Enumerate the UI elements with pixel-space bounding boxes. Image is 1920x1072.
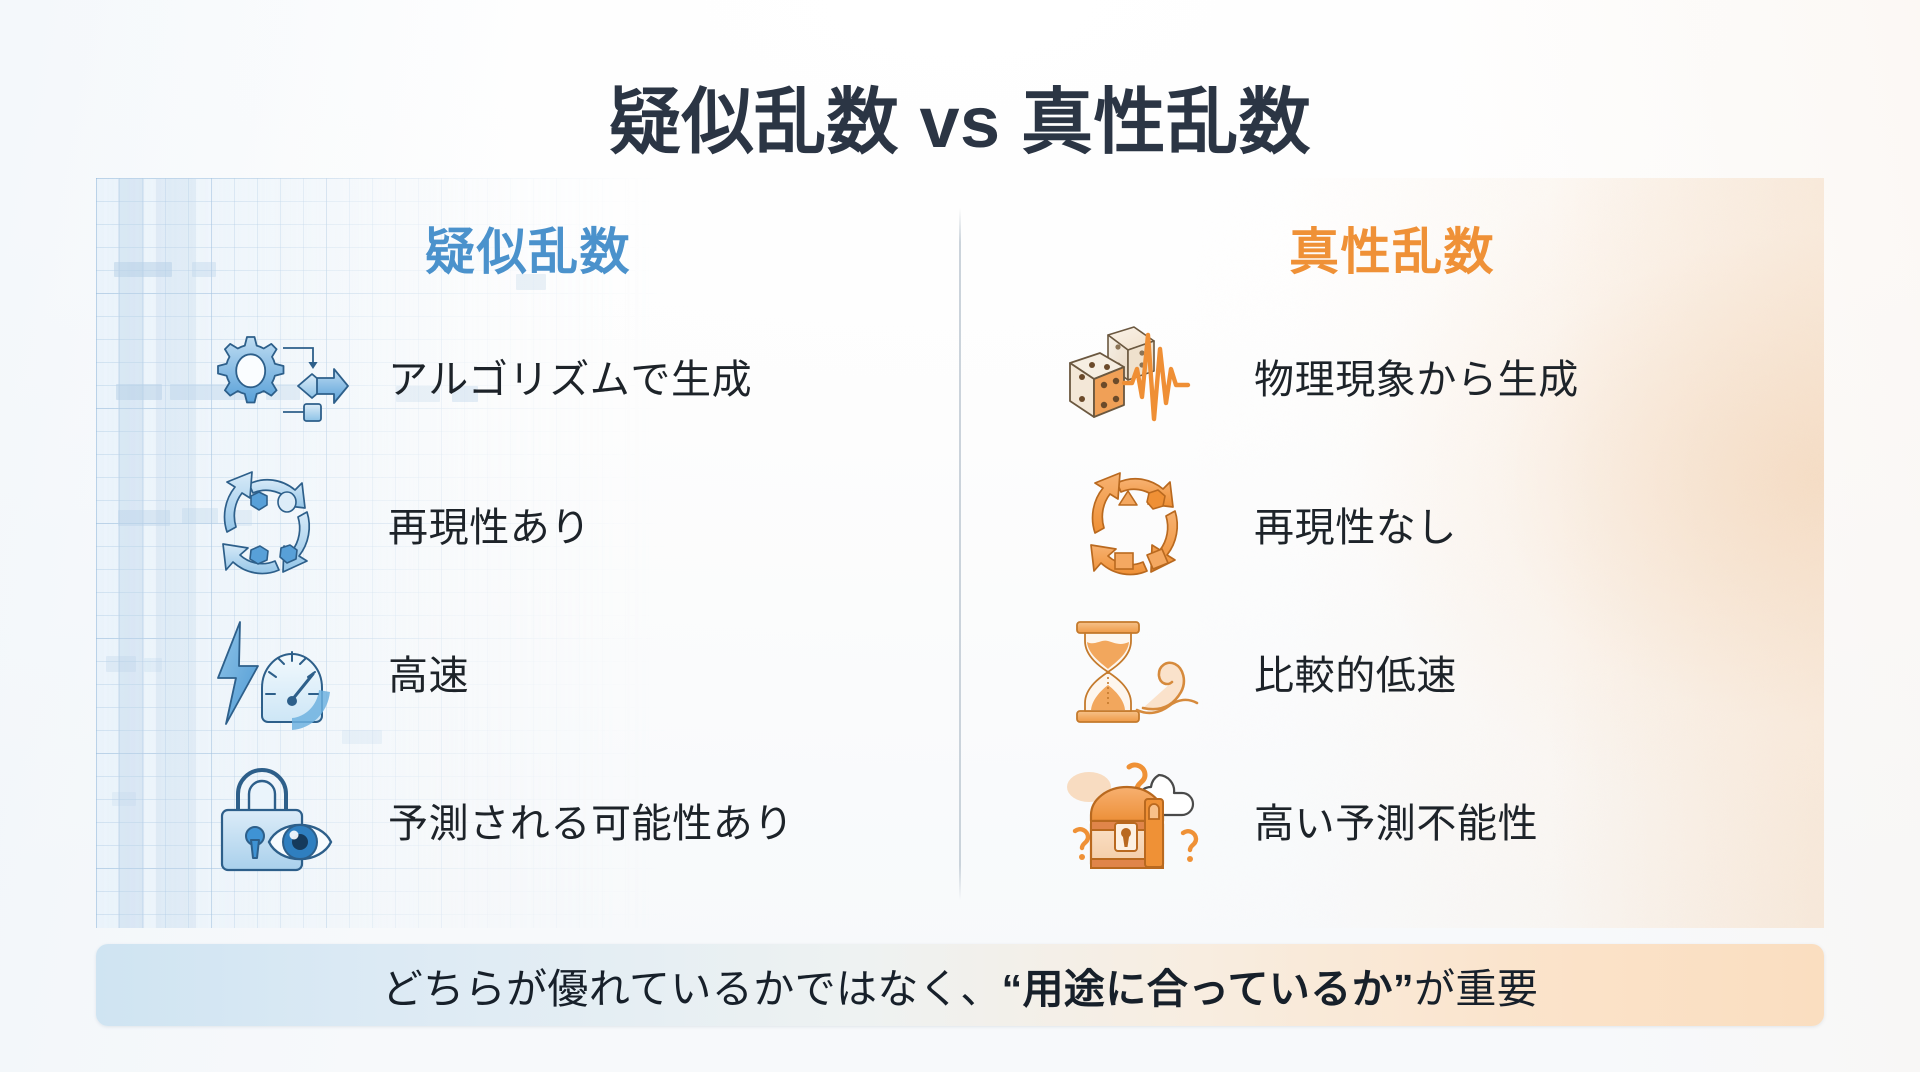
gear-flowchart-icon xyxy=(200,320,352,432)
column-heading-pseudo: 疑似乱数 xyxy=(96,212,960,284)
list-item-label: 再現性あり xyxy=(388,495,591,553)
page-title: 疑似乱数 vs 真性乱数 xyxy=(609,82,1311,165)
dice-waveform-icon xyxy=(1066,320,1218,432)
treasure-chest-question-icon xyxy=(1066,764,1218,876)
list-item-label: 高速 xyxy=(388,643,469,701)
column-heading-label: 真性乱数 xyxy=(1289,212,1495,284)
column-pseudo-random: 疑似乱数 xyxy=(96,178,960,928)
conclusion-lead: どちらが優れているかではなく、 xyxy=(382,966,1002,1012)
list-item-label: 予測される可能性あり xyxy=(388,791,794,849)
slide-root: 疑似乱数 vs 真性乱数 xyxy=(0,0,1920,1072)
padlock-eye-icon xyxy=(200,764,352,876)
list-item-label: アルゴリズムで生成 xyxy=(388,347,752,405)
column-heading-label: 疑似乱数 xyxy=(425,212,631,284)
list-item: 物理現象から生成 xyxy=(960,302,1824,450)
lightning-speedometer-icon xyxy=(200,616,352,728)
title-block: 疑似乱数 vs 真性乱数 xyxy=(0,34,1920,213)
column-true-random: 真性乱数 xyxy=(960,178,1824,928)
list-item-label: 再現性なし xyxy=(1254,495,1457,553)
list-item: 予測される可能性あり xyxy=(96,746,960,894)
circular-arrows-shapes-icon xyxy=(1066,468,1218,580)
column-divider xyxy=(959,208,961,900)
list-item: アルゴリズムで生成 xyxy=(96,302,960,450)
conclusion-banner: どちらが優れているかではなく、“用途に合っているか”が重要 xyxy=(96,944,1824,1026)
list-item: 高い予測不能性 xyxy=(960,746,1824,894)
feature-list-true: 物理現象から生成 xyxy=(960,302,1824,894)
list-item-label: 物理現象から生成 xyxy=(1254,347,1579,405)
list-item: 比較的低速 xyxy=(960,598,1824,746)
hourglass-wave-icon xyxy=(1066,616,1218,728)
list-item-label: 高い予測不能性 xyxy=(1254,791,1538,849)
conclusion-text: どちらが優れているかではなく、“用途に合っているか”が重要 xyxy=(382,955,1538,1015)
list-item: 再現性なし xyxy=(960,450,1824,598)
list-item: 高速 xyxy=(96,598,960,746)
conclusion-tail: が重要 xyxy=(1414,966,1538,1012)
feature-list-pseudo: アルゴリズムで生成 xyxy=(96,302,960,894)
list-item-label: 比較的低速 xyxy=(1254,643,1457,701)
circular-arrows-icon xyxy=(200,468,352,580)
list-item: 再現性あり xyxy=(96,450,960,598)
conclusion-emphasis: “用途に合っているか” xyxy=(1002,966,1414,1012)
column-heading-true: 真性乱数 xyxy=(960,212,1824,284)
